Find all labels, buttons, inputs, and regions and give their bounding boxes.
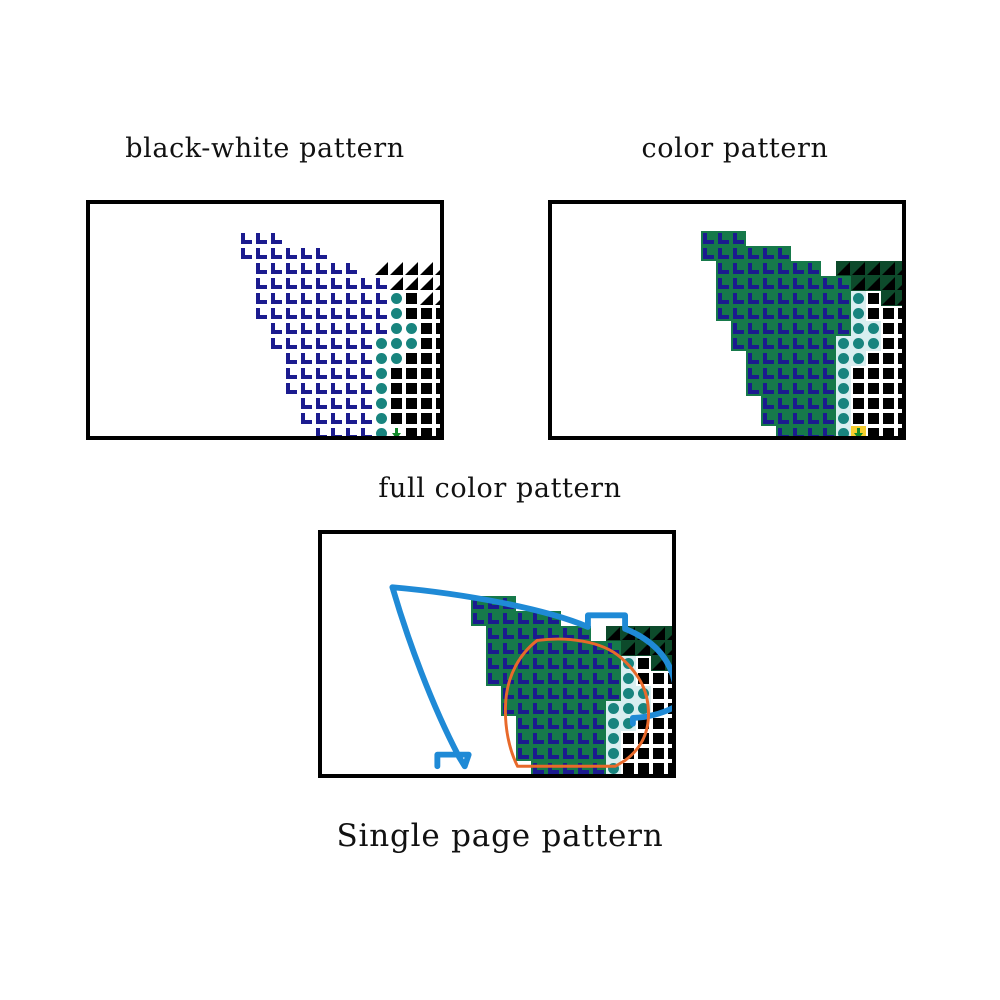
corner-stitch-icon bbox=[806, 321, 821, 336]
square-stitch-icon bbox=[419, 351, 434, 366]
corner-stitch-icon bbox=[576, 656, 591, 671]
pattern-cell-triangle-stitch bbox=[881, 276, 896, 291]
pattern-cell-corner-stitch bbox=[791, 381, 806, 396]
corner-stitch-icon bbox=[806, 396, 821, 411]
pattern-cell-triangle-stitch bbox=[621, 626, 636, 641]
pattern-cell-triangle-stitch bbox=[389, 261, 404, 276]
pattern-cell-corner-stitch bbox=[531, 776, 546, 778]
pattern-cell-corner-stitch bbox=[716, 261, 731, 276]
pattern-cell-square-stitch bbox=[666, 686, 676, 701]
pattern-cell-square-stitch bbox=[404, 411, 419, 426]
pattern-cell-corner-stitch bbox=[776, 426, 791, 440]
pattern-cell-corner-stitch bbox=[806, 276, 821, 291]
pattern-cell-corner-stitch bbox=[836, 276, 851, 291]
corner-stitch-icon bbox=[591, 776, 606, 778]
square-stitch-icon bbox=[419, 381, 434, 396]
pattern-cell-corner-stitch bbox=[314, 321, 329, 336]
pattern-cell-triangle-stitch bbox=[866, 261, 881, 276]
corner-stitch-icon bbox=[746, 306, 761, 321]
pattern-cell-corner-stitch bbox=[314, 291, 329, 306]
corner-stitch-icon bbox=[531, 641, 546, 656]
corner-stitch-icon bbox=[344, 366, 359, 381]
circle-stitch-icon bbox=[606, 701, 621, 716]
pattern-cell-square-stitch bbox=[896, 396, 906, 411]
pattern-cell-corner-stitch bbox=[501, 596, 516, 611]
corner-stitch-icon bbox=[501, 596, 516, 611]
pattern-cell-circle-stitch bbox=[374, 381, 389, 396]
corner-stitch-icon bbox=[731, 261, 746, 276]
corner-stitch-icon bbox=[501, 626, 516, 641]
pattern-cell-square-stitch bbox=[419, 336, 434, 351]
square-stitch-icon bbox=[419, 366, 434, 381]
pattern-cell-corner-stitch bbox=[806, 426, 821, 440]
pattern-cell-corner-stitch bbox=[254, 231, 269, 246]
pattern-cell-corner-stitch bbox=[329, 396, 344, 411]
pattern-cell-corner-stitch bbox=[791, 351, 806, 366]
corner-stitch-icon bbox=[471, 611, 486, 626]
corner-stitch-icon bbox=[806, 411, 821, 426]
pattern-cell-corner-stitch bbox=[284, 276, 299, 291]
square-stitch-icon bbox=[651, 701, 666, 716]
pattern-cell-corner-stitch bbox=[791, 366, 806, 381]
corner-stitch-icon bbox=[284, 246, 299, 261]
corner-stitch-icon bbox=[591, 731, 606, 746]
pattern-cell-corner-stitch bbox=[746, 261, 761, 276]
pattern-cell-corner-stitch bbox=[701, 231, 716, 246]
corner-stitch-icon bbox=[329, 336, 344, 351]
pattern-cell-corner-stitch bbox=[761, 381, 776, 396]
pattern-cell-arrow-stitch bbox=[851, 426, 866, 440]
pattern-cell-corner-stitch bbox=[761, 351, 776, 366]
pattern-cell-triangle-stitch bbox=[434, 291, 444, 306]
corner-stitch-icon bbox=[314, 336, 329, 351]
corner-stitch-icon bbox=[546, 701, 561, 716]
triangle-stitch-icon bbox=[419, 276, 434, 291]
square-stitch-icon bbox=[651, 686, 666, 701]
circle-stitch-icon bbox=[851, 351, 866, 366]
pattern-cell-triangle-stitch bbox=[636, 641, 651, 656]
corner-stitch-icon bbox=[776, 396, 791, 411]
pattern-cell-corner-stitch bbox=[791, 321, 806, 336]
corner-stitch-icon bbox=[546, 761, 561, 776]
pattern-cell-square-stitch bbox=[866, 426, 881, 440]
pattern-cell-circle-stitch bbox=[851, 291, 866, 306]
square-stitch-icon bbox=[419, 426, 434, 440]
pattern-cell-corner-stitch bbox=[359, 411, 374, 426]
pattern-cell-square-stitch bbox=[896, 306, 906, 321]
square-stitch-icon bbox=[666, 776, 676, 778]
pattern-cell-corner-stitch bbox=[776, 261, 791, 276]
pattern-cell-square-stitch bbox=[896, 426, 906, 440]
pattern-cell-corner-stitch bbox=[561, 671, 576, 686]
pattern-cell-corner-stitch bbox=[329, 276, 344, 291]
square-stitch-icon bbox=[404, 291, 419, 306]
pattern-cell-corner-stitch bbox=[806, 396, 821, 411]
pattern-cell-circle-stitch bbox=[851, 351, 866, 366]
square-stitch-icon bbox=[434, 381, 444, 396]
corner-stitch-icon bbox=[329, 261, 344, 276]
triangle-stitch-icon bbox=[636, 626, 651, 641]
pattern-cell-corner-stitch bbox=[344, 321, 359, 336]
circle-stitch-icon bbox=[374, 366, 389, 381]
pattern-cell-corner-stitch bbox=[329, 321, 344, 336]
corner-stitch-icon bbox=[821, 411, 836, 426]
pattern-cell-square-stitch bbox=[851, 411, 866, 426]
pattern-cell-corner-stitch bbox=[516, 731, 531, 746]
pattern-cell-circle-stitch bbox=[606, 701, 621, 716]
corner-stitch-icon bbox=[591, 641, 606, 656]
pattern-cell-corner-stitch bbox=[716, 306, 731, 321]
pattern-cell-corner-stitch bbox=[516, 716, 531, 731]
pattern-cell-corner-stitch bbox=[284, 321, 299, 336]
pattern-cell-corner-stitch bbox=[344, 306, 359, 321]
pattern-cell-square-stitch bbox=[866, 366, 881, 381]
corner-stitch-icon bbox=[791, 291, 806, 306]
pattern-cell-square-stitch bbox=[434, 381, 444, 396]
corner-stitch-icon bbox=[486, 656, 501, 671]
corner-stitch-icon bbox=[576, 746, 591, 761]
square-stitch-icon bbox=[434, 351, 444, 366]
pattern-cell-corner-stitch bbox=[791, 276, 806, 291]
corner-stitch-icon bbox=[314, 306, 329, 321]
corner-stitch-icon bbox=[776, 306, 791, 321]
pattern-cell-circle-stitch bbox=[836, 381, 851, 396]
pattern-cell-corner-stitch bbox=[314, 306, 329, 321]
corner-stitch-icon bbox=[546, 641, 561, 656]
corner-stitch-icon bbox=[486, 671, 501, 686]
corner-stitch-icon bbox=[731, 291, 746, 306]
pattern-cell-corner-stitch bbox=[329, 306, 344, 321]
panel-full-color bbox=[318, 530, 676, 778]
pattern-cell-triangle-stitch bbox=[419, 276, 434, 291]
pattern-cell-corner-stitch bbox=[269, 336, 284, 351]
corner-stitch-icon bbox=[546, 656, 561, 671]
square-stitch-icon bbox=[896, 381, 906, 396]
pattern-cell-corner-stitch bbox=[486, 611, 501, 626]
pattern-cell-square-stitch bbox=[389, 366, 404, 381]
pattern-cell-corner-stitch bbox=[314, 426, 329, 440]
pattern-cell-corner-stitch bbox=[254, 261, 269, 276]
pattern-cell-square-stitch bbox=[866, 411, 881, 426]
corner-stitch-icon bbox=[501, 641, 516, 656]
pattern-cell-corner-stitch bbox=[299, 276, 314, 291]
pattern-cell-corner-stitch bbox=[359, 306, 374, 321]
pattern-cell-corner-stitch bbox=[329, 426, 344, 440]
pattern-cell-corner-stitch bbox=[239, 231, 254, 246]
pattern-cell-square-stitch bbox=[419, 321, 434, 336]
square-stitch-icon bbox=[896, 336, 906, 351]
pattern-cell-circle-stitch bbox=[851, 336, 866, 351]
corner-stitch-icon bbox=[344, 411, 359, 426]
pattern-cell-square-stitch bbox=[636, 746, 651, 761]
corner-stitch-icon bbox=[486, 611, 501, 626]
corner-stitch-icon bbox=[576, 716, 591, 731]
corner-stitch-icon bbox=[731, 306, 746, 321]
pattern-cell-circle-stitch bbox=[606, 776, 621, 778]
corner-stitch-icon bbox=[344, 276, 359, 291]
square-stitch-icon bbox=[621, 746, 636, 761]
arrow-stitch-icon bbox=[389, 426, 404, 440]
square-stitch-icon bbox=[896, 306, 906, 321]
corner-stitch-icon bbox=[716, 231, 731, 246]
triangle-stitch-icon bbox=[434, 261, 444, 276]
pattern-cell-corner-stitch bbox=[254, 246, 269, 261]
corner-stitch-icon bbox=[299, 336, 314, 351]
corner-stitch-icon bbox=[546, 626, 561, 641]
corner-stitch-icon bbox=[561, 776, 576, 778]
corner-stitch-icon bbox=[314, 396, 329, 411]
pattern-cell-square-stitch bbox=[666, 671, 676, 686]
pattern-cell-corner-stitch bbox=[806, 321, 821, 336]
corner-stitch-icon bbox=[731, 321, 746, 336]
square-stitch-icon bbox=[866, 411, 881, 426]
corner-stitch-icon bbox=[531, 671, 546, 686]
pattern-cell-square-stitch bbox=[666, 746, 676, 761]
pattern-cell-corner-stitch bbox=[606, 641, 621, 656]
pattern-cell-corner-stitch bbox=[761, 246, 776, 261]
corner-stitch-icon bbox=[329, 351, 344, 366]
pattern-cell-corner-stitch bbox=[576, 731, 591, 746]
pattern-cell-corner-stitch bbox=[546, 641, 561, 656]
corner-stitch-icon bbox=[344, 291, 359, 306]
triangle-stitch-icon bbox=[866, 261, 881, 276]
pattern-cell-corner-stitch bbox=[531, 656, 546, 671]
pattern-cell-corner-stitch bbox=[546, 701, 561, 716]
square-stitch-icon bbox=[866, 366, 881, 381]
triangle-stitch-icon bbox=[404, 261, 419, 276]
circle-stitch-icon bbox=[621, 686, 636, 701]
corner-stitch-icon bbox=[329, 291, 344, 306]
pattern-cell-corner-stitch bbox=[531, 746, 546, 761]
corner-stitch-icon bbox=[591, 686, 606, 701]
circle-stitch-icon bbox=[866, 336, 881, 351]
corner-stitch-icon bbox=[776, 381, 791, 396]
corner-stitch-icon bbox=[344, 261, 359, 276]
pattern-cell-corner-stitch bbox=[314, 276, 329, 291]
corner-stitch-icon bbox=[516, 746, 531, 761]
corner-stitch-icon bbox=[561, 746, 576, 761]
triangle-stitch-icon bbox=[434, 276, 444, 291]
corner-stitch-icon bbox=[531, 746, 546, 761]
circle-stitch-icon bbox=[636, 686, 651, 701]
corner-stitch-icon bbox=[576, 626, 591, 641]
circle-stitch-icon bbox=[374, 336, 389, 351]
square-stitch-icon bbox=[866, 351, 881, 366]
corner-stitch-icon bbox=[701, 231, 716, 246]
pattern-cell-circle-stitch bbox=[621, 656, 636, 671]
corner-stitch-icon bbox=[836, 306, 851, 321]
corner-stitch-icon bbox=[576, 701, 591, 716]
pattern-cell-corner-stitch bbox=[329, 291, 344, 306]
pattern-cell-square-stitch bbox=[666, 716, 676, 731]
corner-stitch-icon bbox=[776, 411, 791, 426]
pattern-cell-circle-stitch bbox=[404, 336, 419, 351]
circle-stitch-icon bbox=[836, 426, 851, 440]
circle-stitch-icon bbox=[374, 351, 389, 366]
pattern-cell-corner-stitch bbox=[284, 381, 299, 396]
pattern-cell-triangle-stitch bbox=[651, 656, 666, 671]
pattern-cell-corner-stitch bbox=[776, 381, 791, 396]
corner-stitch-icon bbox=[806, 351, 821, 366]
pattern-cell-circle-stitch bbox=[621, 686, 636, 701]
square-stitch-icon bbox=[389, 396, 404, 411]
pattern-cell-triangle-stitch bbox=[389, 276, 404, 291]
corner-stitch-icon bbox=[746, 246, 761, 261]
pattern-cell-square-stitch bbox=[621, 746, 636, 761]
pattern-cell-corner-stitch bbox=[329, 336, 344, 351]
pattern-cell-corner-stitch bbox=[359, 381, 374, 396]
corner-stitch-icon bbox=[561, 626, 576, 641]
pattern-cell-corner-stitch bbox=[561, 641, 576, 656]
pattern-cell-triangle-stitch bbox=[636, 626, 651, 641]
square-stitch-icon bbox=[651, 746, 666, 761]
corner-stitch-icon bbox=[299, 306, 314, 321]
pattern-cell-corner-stitch bbox=[501, 611, 516, 626]
corner-stitch-icon bbox=[486, 641, 501, 656]
pattern-cell-triangle-stitch bbox=[666, 626, 676, 641]
corner-stitch-icon bbox=[791, 276, 806, 291]
pattern-cell-triangle-stitch bbox=[404, 261, 419, 276]
corner-stitch-icon bbox=[359, 426, 374, 440]
square-stitch-icon bbox=[666, 716, 676, 731]
pattern-cell-corner-stitch bbox=[486, 656, 501, 671]
corner-stitch-icon bbox=[546, 716, 561, 731]
triangle-stitch-icon bbox=[881, 261, 896, 276]
pattern-cell-square-stitch bbox=[651, 761, 666, 776]
pattern-cell-corner-stitch bbox=[731, 321, 746, 336]
pattern-cell-circle-stitch bbox=[836, 366, 851, 381]
square-stitch-icon bbox=[621, 761, 636, 776]
corner-stitch-icon bbox=[284, 366, 299, 381]
pattern-cell-corner-stitch bbox=[359, 351, 374, 366]
square-stitch-icon bbox=[404, 306, 419, 321]
pattern-cell-square-stitch bbox=[651, 716, 666, 731]
pattern-cell-corner-stitch bbox=[471, 611, 486, 626]
corner-stitch-icon bbox=[716, 276, 731, 291]
pattern-cell-corner-stitch bbox=[299, 336, 314, 351]
square-stitch-icon bbox=[434, 366, 444, 381]
corner-stitch-icon bbox=[531, 716, 546, 731]
pattern-cell-square-stitch bbox=[404, 306, 419, 321]
pattern-cell-corner-stitch bbox=[576, 716, 591, 731]
pattern-cell-corner-stitch bbox=[374, 321, 389, 336]
pattern-cell-corner-stitch bbox=[776, 291, 791, 306]
pattern-cell-corner-stitch bbox=[806, 381, 821, 396]
corner-stitch-icon bbox=[776, 366, 791, 381]
pattern-cell-corner-stitch bbox=[531, 701, 546, 716]
corner-stitch-icon bbox=[761, 291, 776, 306]
circle-stitch-icon bbox=[621, 701, 636, 716]
corner-stitch-icon bbox=[531, 776, 546, 778]
corner-stitch-icon bbox=[806, 426, 821, 440]
panel-title-color: color pattern bbox=[470, 133, 1000, 164]
pattern-cell-corner-stitch bbox=[561, 731, 576, 746]
pattern-cell-corner-stitch bbox=[299, 321, 314, 336]
corner-stitch-icon bbox=[576, 776, 591, 778]
pattern-cell-square-stitch bbox=[636, 716, 651, 731]
pattern-cell-square-stitch bbox=[621, 761, 636, 776]
circle-stitch-icon bbox=[389, 336, 404, 351]
square-stitch-icon bbox=[666, 671, 676, 686]
pattern-cell-square-stitch bbox=[881, 351, 896, 366]
corner-stitch-icon bbox=[746, 366, 761, 381]
triangle-stitch-icon bbox=[851, 261, 866, 276]
corner-stitch-icon bbox=[359, 396, 374, 411]
corner-stitch-icon bbox=[359, 366, 374, 381]
pattern-cell-corner-stitch bbox=[776, 276, 791, 291]
pattern-cell-corner-stitch bbox=[374, 276, 389, 291]
square-stitch-icon bbox=[866, 426, 881, 440]
circle-stitch-icon bbox=[621, 716, 636, 731]
square-stitch-icon bbox=[866, 381, 881, 396]
corner-stitch-icon bbox=[776, 246, 791, 261]
pattern-cell-corner-stitch bbox=[591, 746, 606, 761]
pattern-cell-circle-stitch bbox=[836, 396, 851, 411]
pattern-cell-square-stitch bbox=[621, 776, 636, 778]
corner-stitch-icon bbox=[791, 321, 806, 336]
corner-stitch-icon bbox=[761, 306, 776, 321]
pattern-cell-corner-stitch bbox=[806, 291, 821, 306]
pattern-cell-corner-stitch bbox=[746, 321, 761, 336]
corner-stitch-icon bbox=[344, 351, 359, 366]
pattern-cell-corner-stitch bbox=[746, 276, 761, 291]
pattern-cell-corner-stitch bbox=[791, 396, 806, 411]
square-stitch-icon bbox=[404, 411, 419, 426]
pattern-cell-corner-stitch bbox=[284, 291, 299, 306]
square-stitch-icon bbox=[651, 671, 666, 686]
corner-stitch-icon bbox=[821, 396, 836, 411]
pattern-cell-corner-stitch bbox=[821, 366, 836, 381]
square-stitch-icon bbox=[881, 351, 896, 366]
pattern-cell-circle-stitch bbox=[851, 321, 866, 336]
pattern-cell-corner-stitch bbox=[501, 656, 516, 671]
pattern-cell-square-stitch bbox=[651, 671, 666, 686]
pattern-cell-corner-stitch bbox=[269, 261, 284, 276]
pattern-cell-corner-stitch bbox=[516, 686, 531, 701]
corner-stitch-icon bbox=[299, 261, 314, 276]
pattern-cell-triangle-stitch bbox=[404, 276, 419, 291]
pattern-cell-corner-stitch bbox=[806, 336, 821, 351]
corner-stitch-icon bbox=[761, 246, 776, 261]
corner-stitch-icon bbox=[591, 671, 606, 686]
pattern-cell-square-stitch bbox=[881, 396, 896, 411]
square-stitch-icon bbox=[666, 686, 676, 701]
pattern-cell-corner-stitch bbox=[731, 246, 746, 261]
square-stitch-icon bbox=[881, 366, 896, 381]
pattern-cell-corner-stitch bbox=[561, 761, 576, 776]
corner-stitch-icon bbox=[516, 701, 531, 716]
corner-stitch-icon bbox=[821, 321, 836, 336]
pattern-cell-circle-stitch bbox=[374, 351, 389, 366]
pattern-cell-corner-stitch bbox=[746, 381, 761, 396]
square-stitch-icon bbox=[851, 396, 866, 411]
pattern-cell-corner-stitch bbox=[746, 336, 761, 351]
pattern-cell-square-stitch bbox=[404, 426, 419, 440]
corner-stitch-icon bbox=[561, 761, 576, 776]
pattern-cell-corner-stitch bbox=[821, 381, 836, 396]
pattern-cell-corner-stitch bbox=[546, 626, 561, 641]
pattern-cell-corner-stitch bbox=[344, 411, 359, 426]
corner-stitch-icon bbox=[269, 261, 284, 276]
corner-stitch-icon bbox=[374, 276, 389, 291]
pattern-cell-corner-stitch bbox=[531, 671, 546, 686]
pattern-cell-corner-stitch bbox=[374, 291, 389, 306]
pattern-cell-square-stitch bbox=[404, 381, 419, 396]
corner-stitch-icon bbox=[761, 321, 776, 336]
pattern-cell-square-stitch bbox=[389, 381, 404, 396]
pattern-cell-circle-stitch bbox=[606, 731, 621, 746]
corner-stitch-icon bbox=[314, 381, 329, 396]
